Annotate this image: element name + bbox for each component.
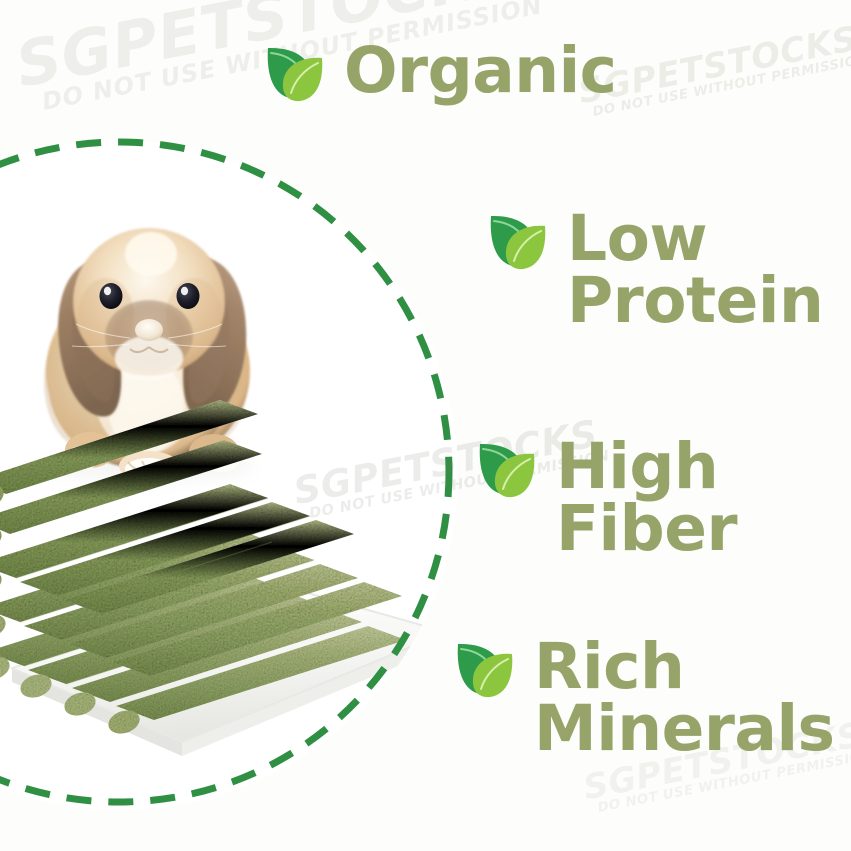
feature-label: Low Protein — [567, 208, 823, 333]
leaf-pair-icon — [448, 632, 520, 709]
watermark-sub-text: DO NOT USE WITHOUT PERMISSION — [591, 51, 851, 120]
feature-label: High Fiber — [556, 436, 737, 561]
feature-rich-minerals: Rich Minerals — [448, 632, 835, 761]
leaf-pair-icon — [470, 432, 542, 509]
photo-artwork — [0, 140, 458, 810]
product-photo-composition — [0, 140, 458, 810]
feature-high-fiber: High Fiber — [470, 432, 737, 561]
feature-label: Organic — [344, 40, 617, 102]
feature-organic: Organic — [258, 36, 617, 113]
feature-low-protein: Low Protein — [481, 204, 823, 333]
product-infographic: SGPETSTOCKS DO NOT USE WITHOUT PERMISSIO… — [0, 0, 851, 851]
leaf-pair-icon — [481, 204, 553, 281]
feature-label: Rich Minerals — [534, 636, 835, 761]
leaf-pair-icon — [258, 36, 330, 113]
